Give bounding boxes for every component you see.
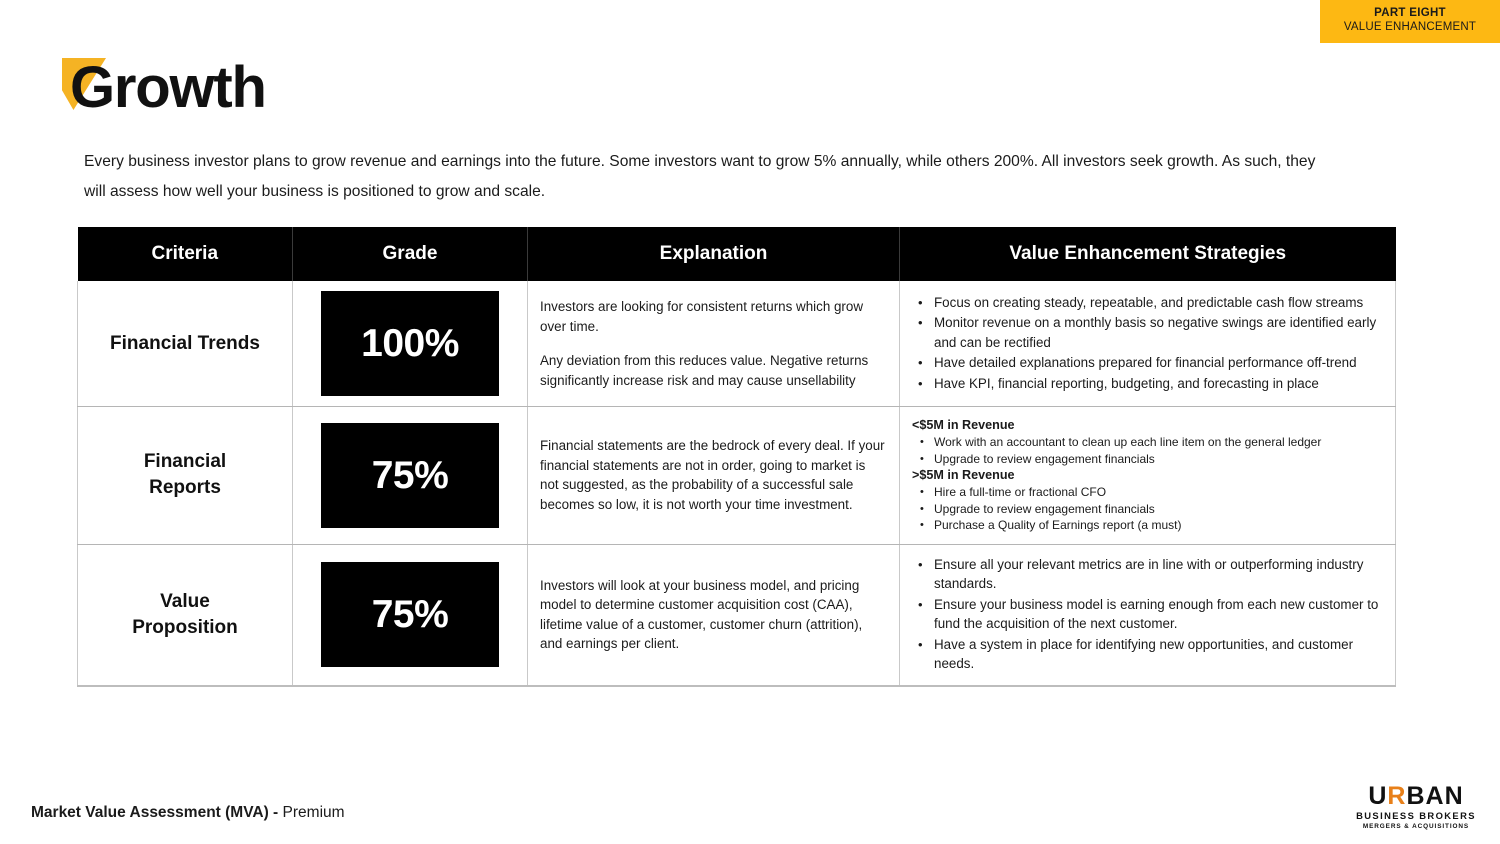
- strategies-list: Hire a full-time or fractional CFO Upgra…: [912, 484, 1383, 534]
- criteria-label-line2: Reports: [149, 477, 221, 498]
- criteria-label: Financial Reports: [78, 407, 293, 545]
- list-item: Ensure your business model is earning en…: [912, 595, 1383, 634]
- assessment-table: Criteria Grade Explanation Value Enhance…: [77, 227, 1396, 687]
- logo-wordmark: URBAN: [1352, 784, 1480, 809]
- logo-text-ban: BAN: [1406, 782, 1463, 810]
- table-row: Financial Reports 75% Financial statemen…: [78, 407, 1396, 545]
- table-row: Financial Trends 100% Investors are look…: [78, 281, 1396, 407]
- footer-title: Market Value Assessment (MVA) - Premium: [31, 804, 345, 822]
- list-item: Have KPI, financial reporting, budgeting…: [912, 374, 1383, 394]
- grade-cell: 75%: [293, 544, 528, 686]
- column-header-criteria: Criteria: [78, 227, 293, 281]
- strategies-list: Ensure all your relevant metrics are in …: [912, 555, 1383, 674]
- part-badge-label: PART EIGHT: [1330, 6, 1490, 20]
- table-header-row: Criteria Grade Explanation Value Enhance…: [78, 227, 1396, 281]
- grade-cell: 75%: [293, 407, 528, 545]
- list-item: Focus on creating steady, repeatable, an…: [912, 293, 1383, 313]
- criteria-label-line2: Proposition: [132, 617, 238, 638]
- page-title: Growth: [70, 55, 266, 120]
- explanation-cell: Investors are looking for consistent ret…: [528, 281, 900, 407]
- list-item: Have detailed explanations prepared for …: [912, 353, 1383, 373]
- grade-badge: 75%: [321, 423, 499, 528]
- strategies-list: Work with an accountant to clean up each…: [912, 434, 1383, 467]
- criteria-label-line1: Value: [160, 591, 210, 612]
- explanation-cell: Financial statements are the bedrock of …: [528, 407, 900, 545]
- grade-badge: 100%: [321, 291, 499, 396]
- brand-logo: URBAN BUSINESS BROKERS MERGERS & ACQUISI…: [1352, 784, 1480, 830]
- list-item: Work with an accountant to clean up each…: [912, 434, 1383, 451]
- logo-text-u: U: [1368, 782, 1387, 810]
- list-item: Hire a full-time or fractional CFO: [912, 484, 1383, 501]
- list-item: Have a system in place for identifying n…: [912, 635, 1383, 674]
- list-item: Purchase a Quality of Earnings report (a…: [912, 517, 1383, 534]
- list-item: Ensure all your relevant metrics are in …: [912, 555, 1383, 594]
- footer-title-rest: Premium: [278, 804, 344, 821]
- explanation-paragraph: Any deviation from this reduces value. N…: [540, 351, 887, 390]
- strategies-cell: Focus on creating steady, repeatable, an…: [900, 281, 1396, 407]
- explanation-cell: Investors will look at your business mod…: [528, 544, 900, 686]
- explanation-paragraph: Investors will look at your business mod…: [540, 576, 887, 654]
- grade-cell: 100%: [293, 281, 528, 407]
- column-header-strategies: Value Enhancement Strategies: [900, 227, 1396, 281]
- page-title-wrap: Growth: [62, 56, 266, 120]
- intro-paragraph: Every business investor plans to grow re…: [84, 147, 1329, 207]
- strategies-list: Focus on creating steady, repeatable, an…: [912, 293, 1383, 394]
- criteria-label-line1: Financial: [144, 451, 226, 472]
- list-item: Monitor revenue on a monthly basis so ne…: [912, 313, 1383, 352]
- column-header-explanation: Explanation: [528, 227, 900, 281]
- criteria-label: Value Proposition: [78, 544, 293, 686]
- strategies-group-heading: <$5M in Revenue: [912, 417, 1383, 434]
- strategies-cell: <$5M in Revenue Work with an accountant …: [900, 407, 1396, 545]
- strategies-cell: Ensure all your relevant metrics are in …: [900, 544, 1396, 686]
- criteria-label: Financial Trends: [78, 281, 293, 407]
- logo-subtagline: MERGERS & ACQUISITIONS: [1352, 824, 1480, 830]
- strategies-group-heading: >$5M in Revenue: [912, 467, 1383, 484]
- part-badge-section: VALUE ENHANCEMENT: [1330, 20, 1490, 34]
- logo-tagline: BUSINESS BROKERS: [1352, 811, 1480, 820]
- logo-text-r-accent: R: [1387, 782, 1406, 810]
- explanation-paragraph: Investors are looking for consistent ret…: [540, 297, 887, 336]
- list-item: Upgrade to review engagement financials: [912, 451, 1383, 468]
- part-badge: PART EIGHT VALUE ENHANCEMENT: [1320, 0, 1500, 43]
- footer-title-bold: Market Value Assessment (MVA) -: [31, 804, 278, 821]
- table-row: Value Proposition 75% Investors will loo…: [78, 544, 1396, 686]
- column-header-grade: Grade: [293, 227, 528, 281]
- grade-badge: 75%: [321, 562, 499, 667]
- explanation-paragraph: Financial statements are the bedrock of …: [540, 436, 887, 514]
- list-item: Upgrade to review engagement financials: [912, 501, 1383, 518]
